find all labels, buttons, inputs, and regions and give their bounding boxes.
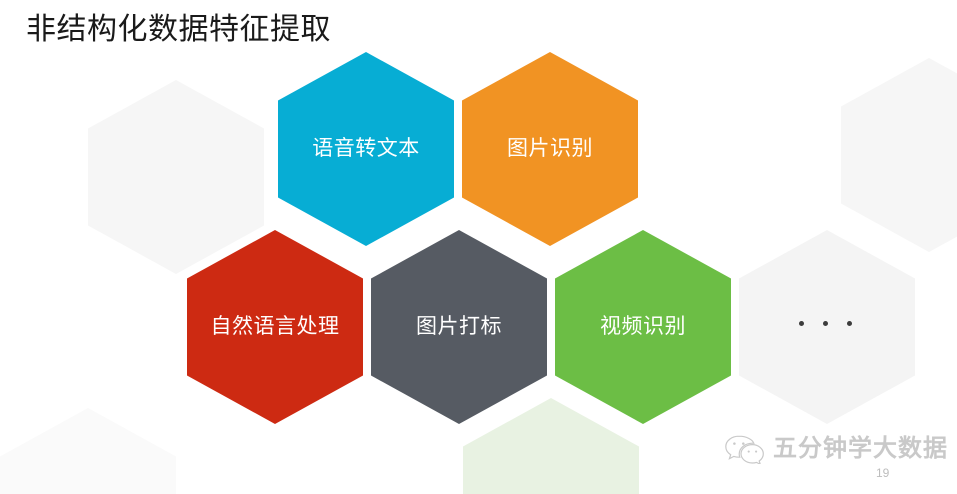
slide-canvas: 非结构化数据特征提取 语音转文本 图片识别 自然语言处理 图片打标 视频识别 (0, 0, 957, 494)
hexagon-speech-to-text[interactable]: 语音转文本 (278, 52, 454, 246)
hexagon-image-recognition[interactable]: 图片识别 (462, 52, 638, 246)
hexagon-label-image-tagging: 图片打标 (416, 313, 502, 341)
hexagon-video-recognition[interactable]: 视频识别 (555, 230, 731, 424)
decorative-hexagon-right-ellipsis (739, 230, 915, 424)
decorative-hexagon-left (88, 80, 264, 274)
page-title: 非结构化数据特征提取 (26, 10, 331, 50)
decorative-hexagon-top-right (841, 58, 957, 252)
ellipsis-more-indicator (799, 321, 852, 326)
hexagon-natural-language-processing[interactable]: 自然语言处理 (187, 230, 363, 424)
wechat-icon (724, 434, 766, 464)
hexagon-image-tagging[interactable]: 图片打标 (371, 230, 547, 424)
decorative-hexagon-bottom-green (463, 398, 639, 494)
ellipsis-dot (799, 321, 804, 326)
watermark: 五分钟学大数据 (724, 434, 948, 464)
page-number: 19 (876, 466, 889, 480)
hexagon-label-natural-language-processing: 自然语言处理 (211, 313, 340, 341)
hexagon-label-image-recognition: 图片识别 (507, 135, 593, 163)
ellipsis-dot (823, 321, 828, 326)
hexagon-label-video-recognition: 视频识别 (600, 313, 686, 341)
ellipsis-dot (847, 321, 852, 326)
decorative-hexagon-bottom-left (0, 408, 176, 494)
hexagon-label-speech-to-text: 语音转文本 (312, 135, 420, 163)
watermark-text: 五分钟学大数据 (773, 434, 948, 464)
